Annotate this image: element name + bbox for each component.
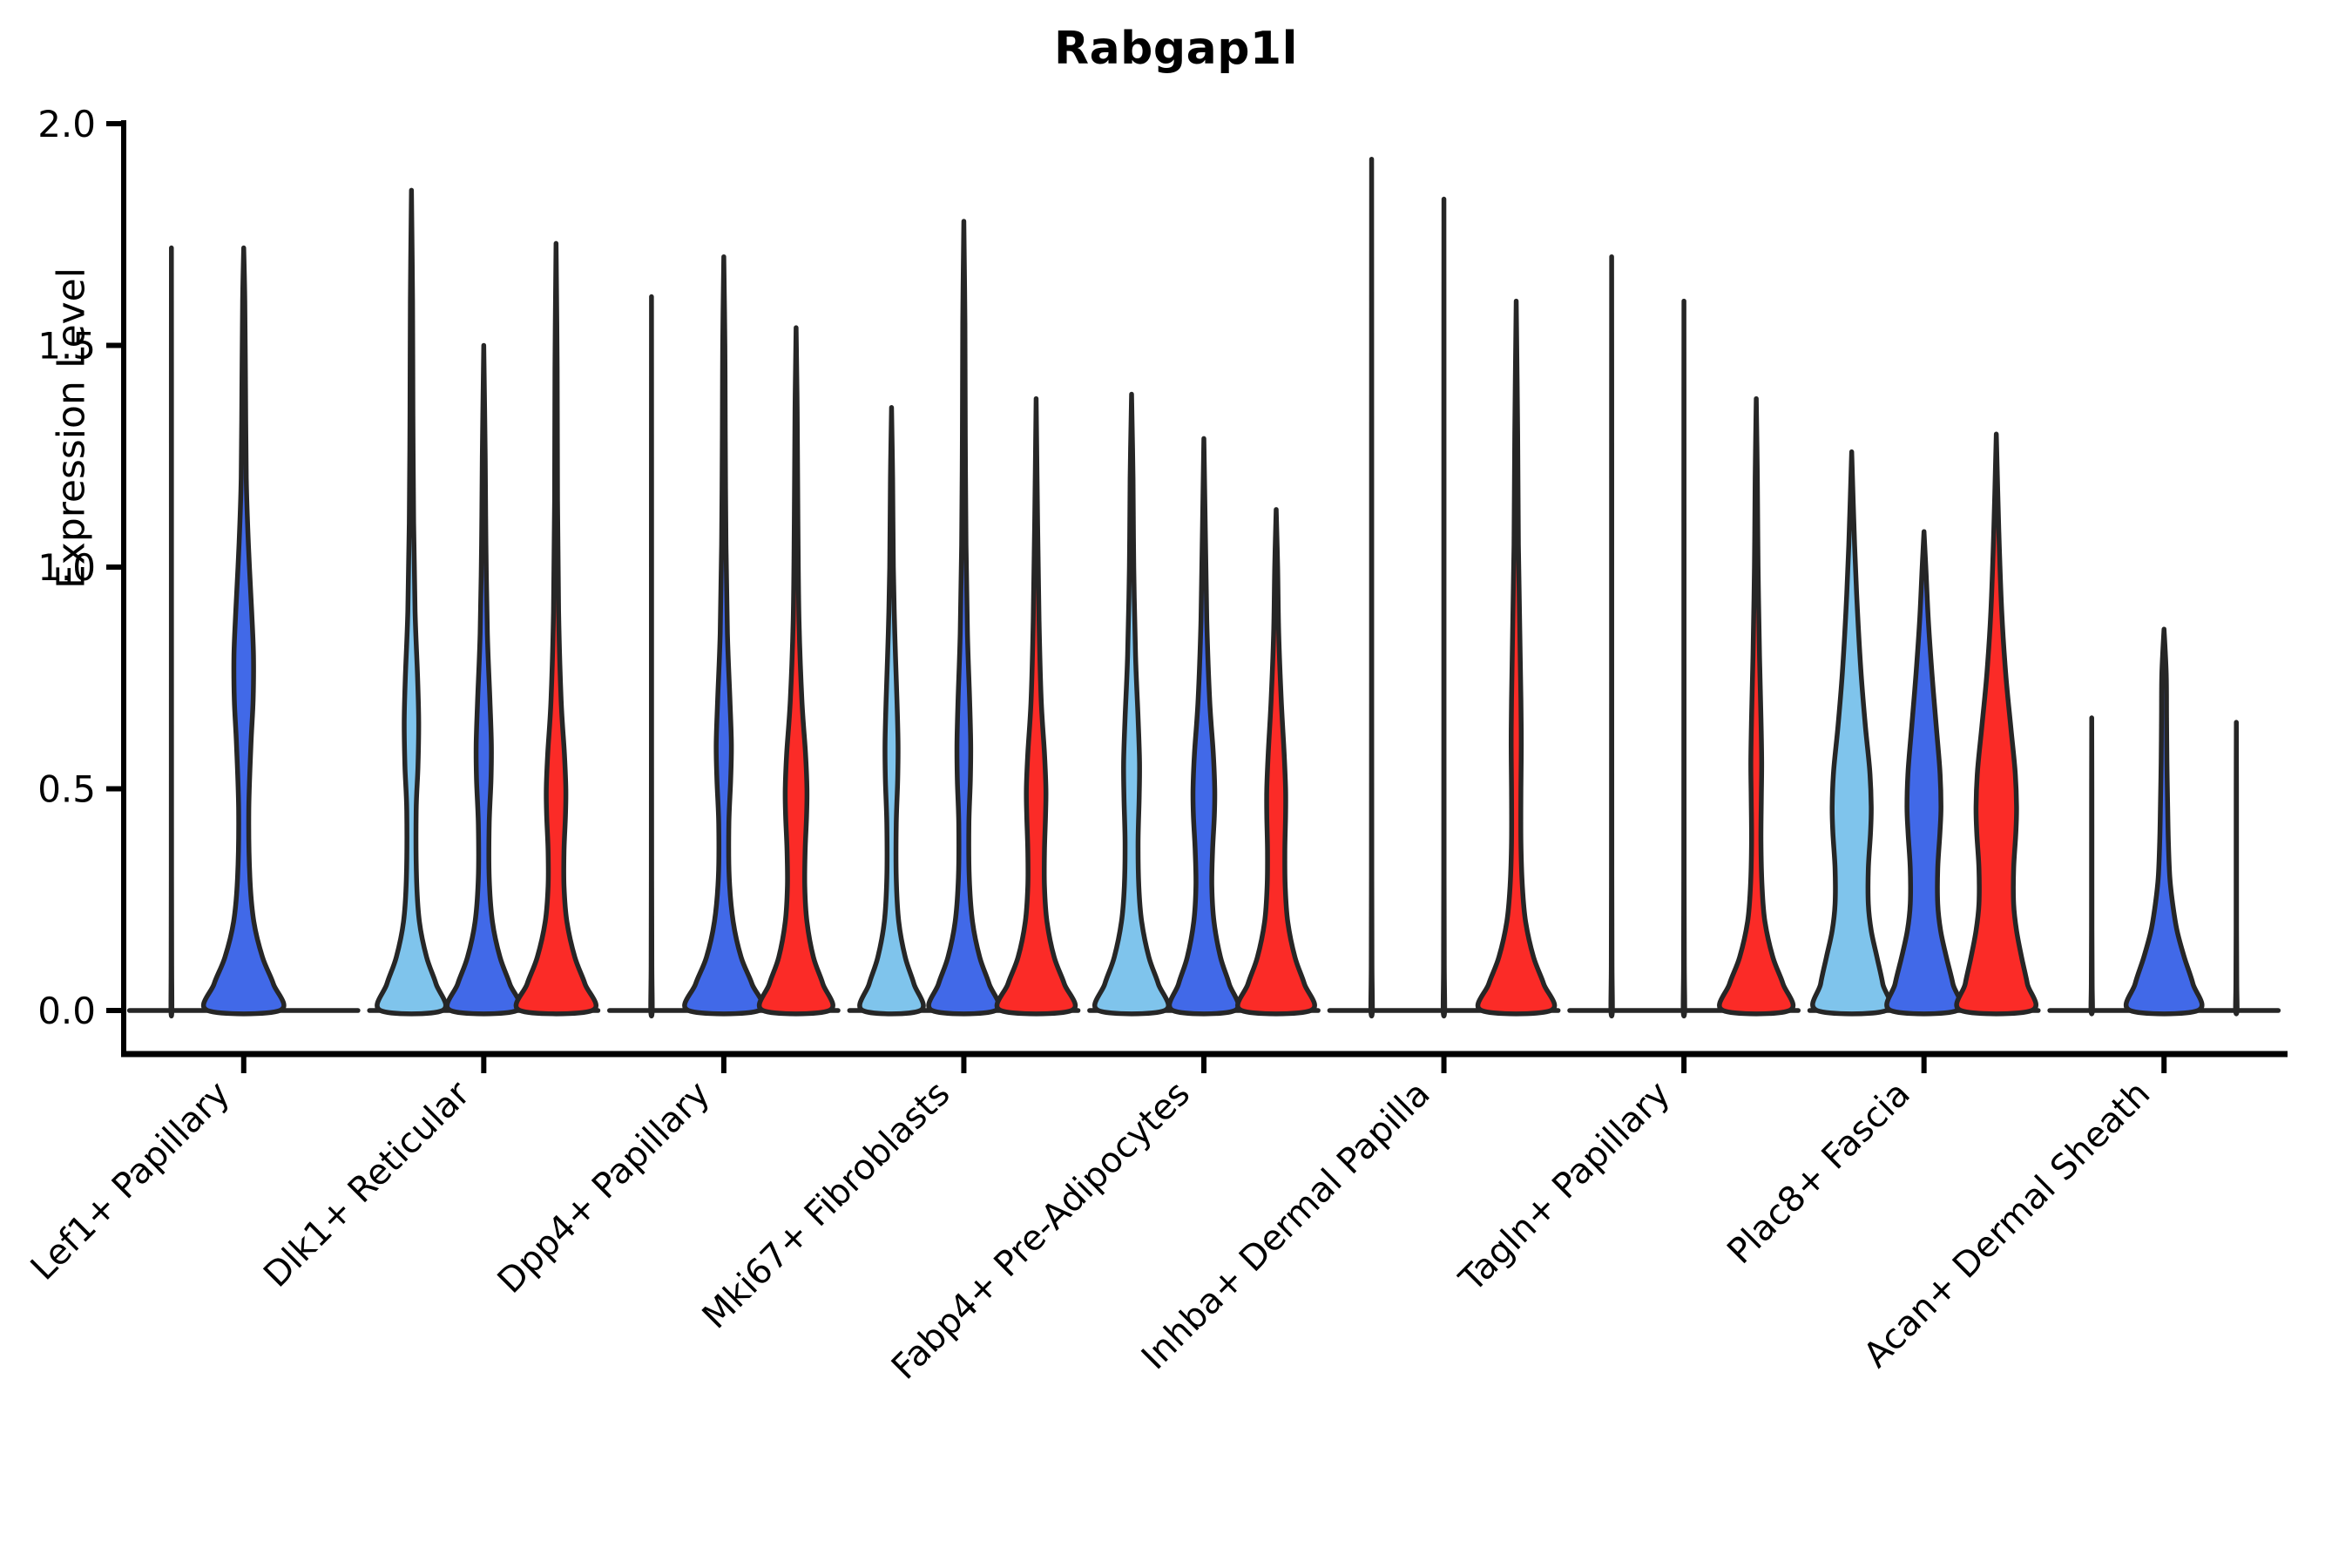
violin-shape[interactable] (1478, 301, 1555, 1014)
violin-shape[interactable] (1169, 438, 1238, 1013)
violin-shape[interactable] (1720, 399, 1794, 1014)
y-tick-label: 0.5 (37, 768, 96, 811)
violin-shape[interactable] (377, 190, 446, 1013)
x-tick-label: Lef1+ Papillary (24, 1074, 238, 1288)
violin-shape[interactable] (651, 297, 652, 1017)
x-tick-label: Acan+ Dermal Sheath (1856, 1074, 2159, 1376)
violin-shape[interactable] (997, 399, 1075, 1014)
violin-shape[interactable] (1238, 510, 1315, 1014)
violin-shape[interactable] (760, 328, 834, 1014)
y-tick-label: 1.5 (37, 325, 96, 368)
violin-shape[interactable] (204, 248, 284, 1014)
violin-shape[interactable] (929, 221, 999, 1014)
x-tick-label: Dlk1+ Reticular (256, 1073, 478, 1295)
violin-shape[interactable] (171, 248, 172, 1017)
y-tick-label: 2.0 (37, 103, 96, 145)
violin-shape[interactable] (1813, 452, 1891, 1014)
violin-group[interactable] (369, 190, 598, 1013)
violin-shape[interactable] (1611, 257, 1612, 1017)
x-tick-label: Dpp4+ Papillary (490, 1074, 718, 1301)
violin-group[interactable] (130, 248, 358, 1017)
violin-shape[interactable] (1371, 159, 1373, 1017)
x-tick-label: Mki67+ Fibroblasts (695, 1074, 958, 1337)
violin-shape[interactable] (2091, 718, 2092, 1014)
violin-shape[interactable] (1683, 301, 1685, 1017)
violin-group[interactable] (1329, 159, 1558, 1017)
violin-shape[interactable] (1443, 199, 1445, 1017)
violin-shape[interactable] (685, 257, 763, 1014)
violin-group[interactable] (1810, 434, 2038, 1014)
violin-shape[interactable] (1957, 434, 2036, 1014)
y-tick-label: 1.0 (37, 546, 96, 589)
violin-shape[interactable] (447, 346, 520, 1014)
violin-shape[interactable] (1887, 531, 1962, 1014)
violin-group[interactable] (1570, 257, 1798, 1017)
violin-shape[interactable] (2126, 629, 2202, 1014)
violin-shape[interactable] (516, 243, 596, 1013)
violin-shape[interactable] (860, 408, 923, 1014)
violin-plot-figure: Rabgap1l Expression Level 0.00.51.01.52.… (0, 0, 2352, 1568)
violin-group[interactable] (849, 221, 1078, 1014)
axis-group: 0.00.51.01.52.0Lef1+ PapillaryDlk1+ Reti… (24, 103, 2288, 1388)
violin-group[interactable] (2050, 629, 2278, 1014)
y-tick-label: 0.0 (37, 990, 96, 1032)
violin-group[interactable] (1090, 394, 1318, 1013)
plot-canvas: 0.00.51.01.52.0Lef1+ PapillaryDlk1+ Reti… (0, 0, 2352, 1568)
violin-group[interactable] (610, 257, 838, 1017)
x-tick-label: Tagln+ Papillary (1451, 1074, 1678, 1301)
x-tick-label: Plac8+ Fascia (1720, 1074, 1918, 1273)
violin-shape[interactable] (2235, 722, 2237, 1014)
violin-shape[interactable] (1095, 394, 1169, 1013)
